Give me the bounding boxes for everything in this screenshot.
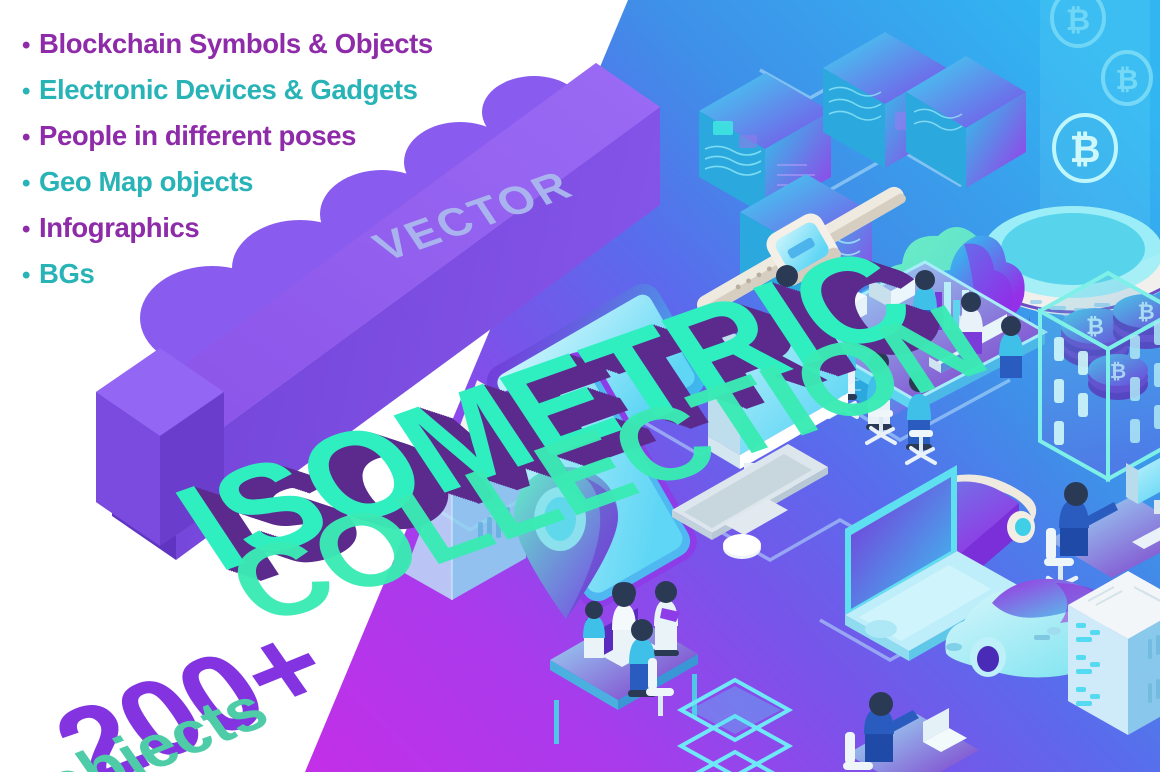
feature-label: People in different poses bbox=[39, 114, 356, 158]
feature-label: Blockchain Symbols & Objects bbox=[39, 22, 433, 66]
feature-list-item: • BGs bbox=[22, 252, 522, 298]
feature-list-item: • Infographics bbox=[22, 206, 522, 252]
feature-label: Electronic Devices & Gadgets bbox=[39, 68, 418, 112]
bullet-dot-icon: • bbox=[22, 208, 30, 252]
feature-label: BGs bbox=[39, 252, 94, 296]
feature-list-item: • Electronic Devices & Gadgets bbox=[22, 68, 522, 114]
feature-list-item: • Blockchain Symbols & Objects bbox=[22, 22, 522, 68]
bullet-dot-icon: • bbox=[22, 24, 30, 68]
bullet-dot-icon: • bbox=[22, 254, 30, 298]
bullet-dot-icon: • bbox=[22, 116, 30, 160]
feature-list-item: • Geo Map objects bbox=[22, 160, 522, 206]
bullet-dot-icon: • bbox=[22, 70, 30, 114]
feature-list: • Blockchain Symbols & Objects • Electro… bbox=[22, 22, 522, 298]
feature-label: Geo Map objects bbox=[39, 160, 253, 204]
feature-label: Infographics bbox=[39, 206, 199, 250]
feature-list-item: • People in different poses bbox=[22, 114, 522, 160]
poster-canvas: ₿ ₿ ₿ bbox=[0, 0, 1160, 772]
bullet-dot-icon: • bbox=[22, 162, 30, 206]
